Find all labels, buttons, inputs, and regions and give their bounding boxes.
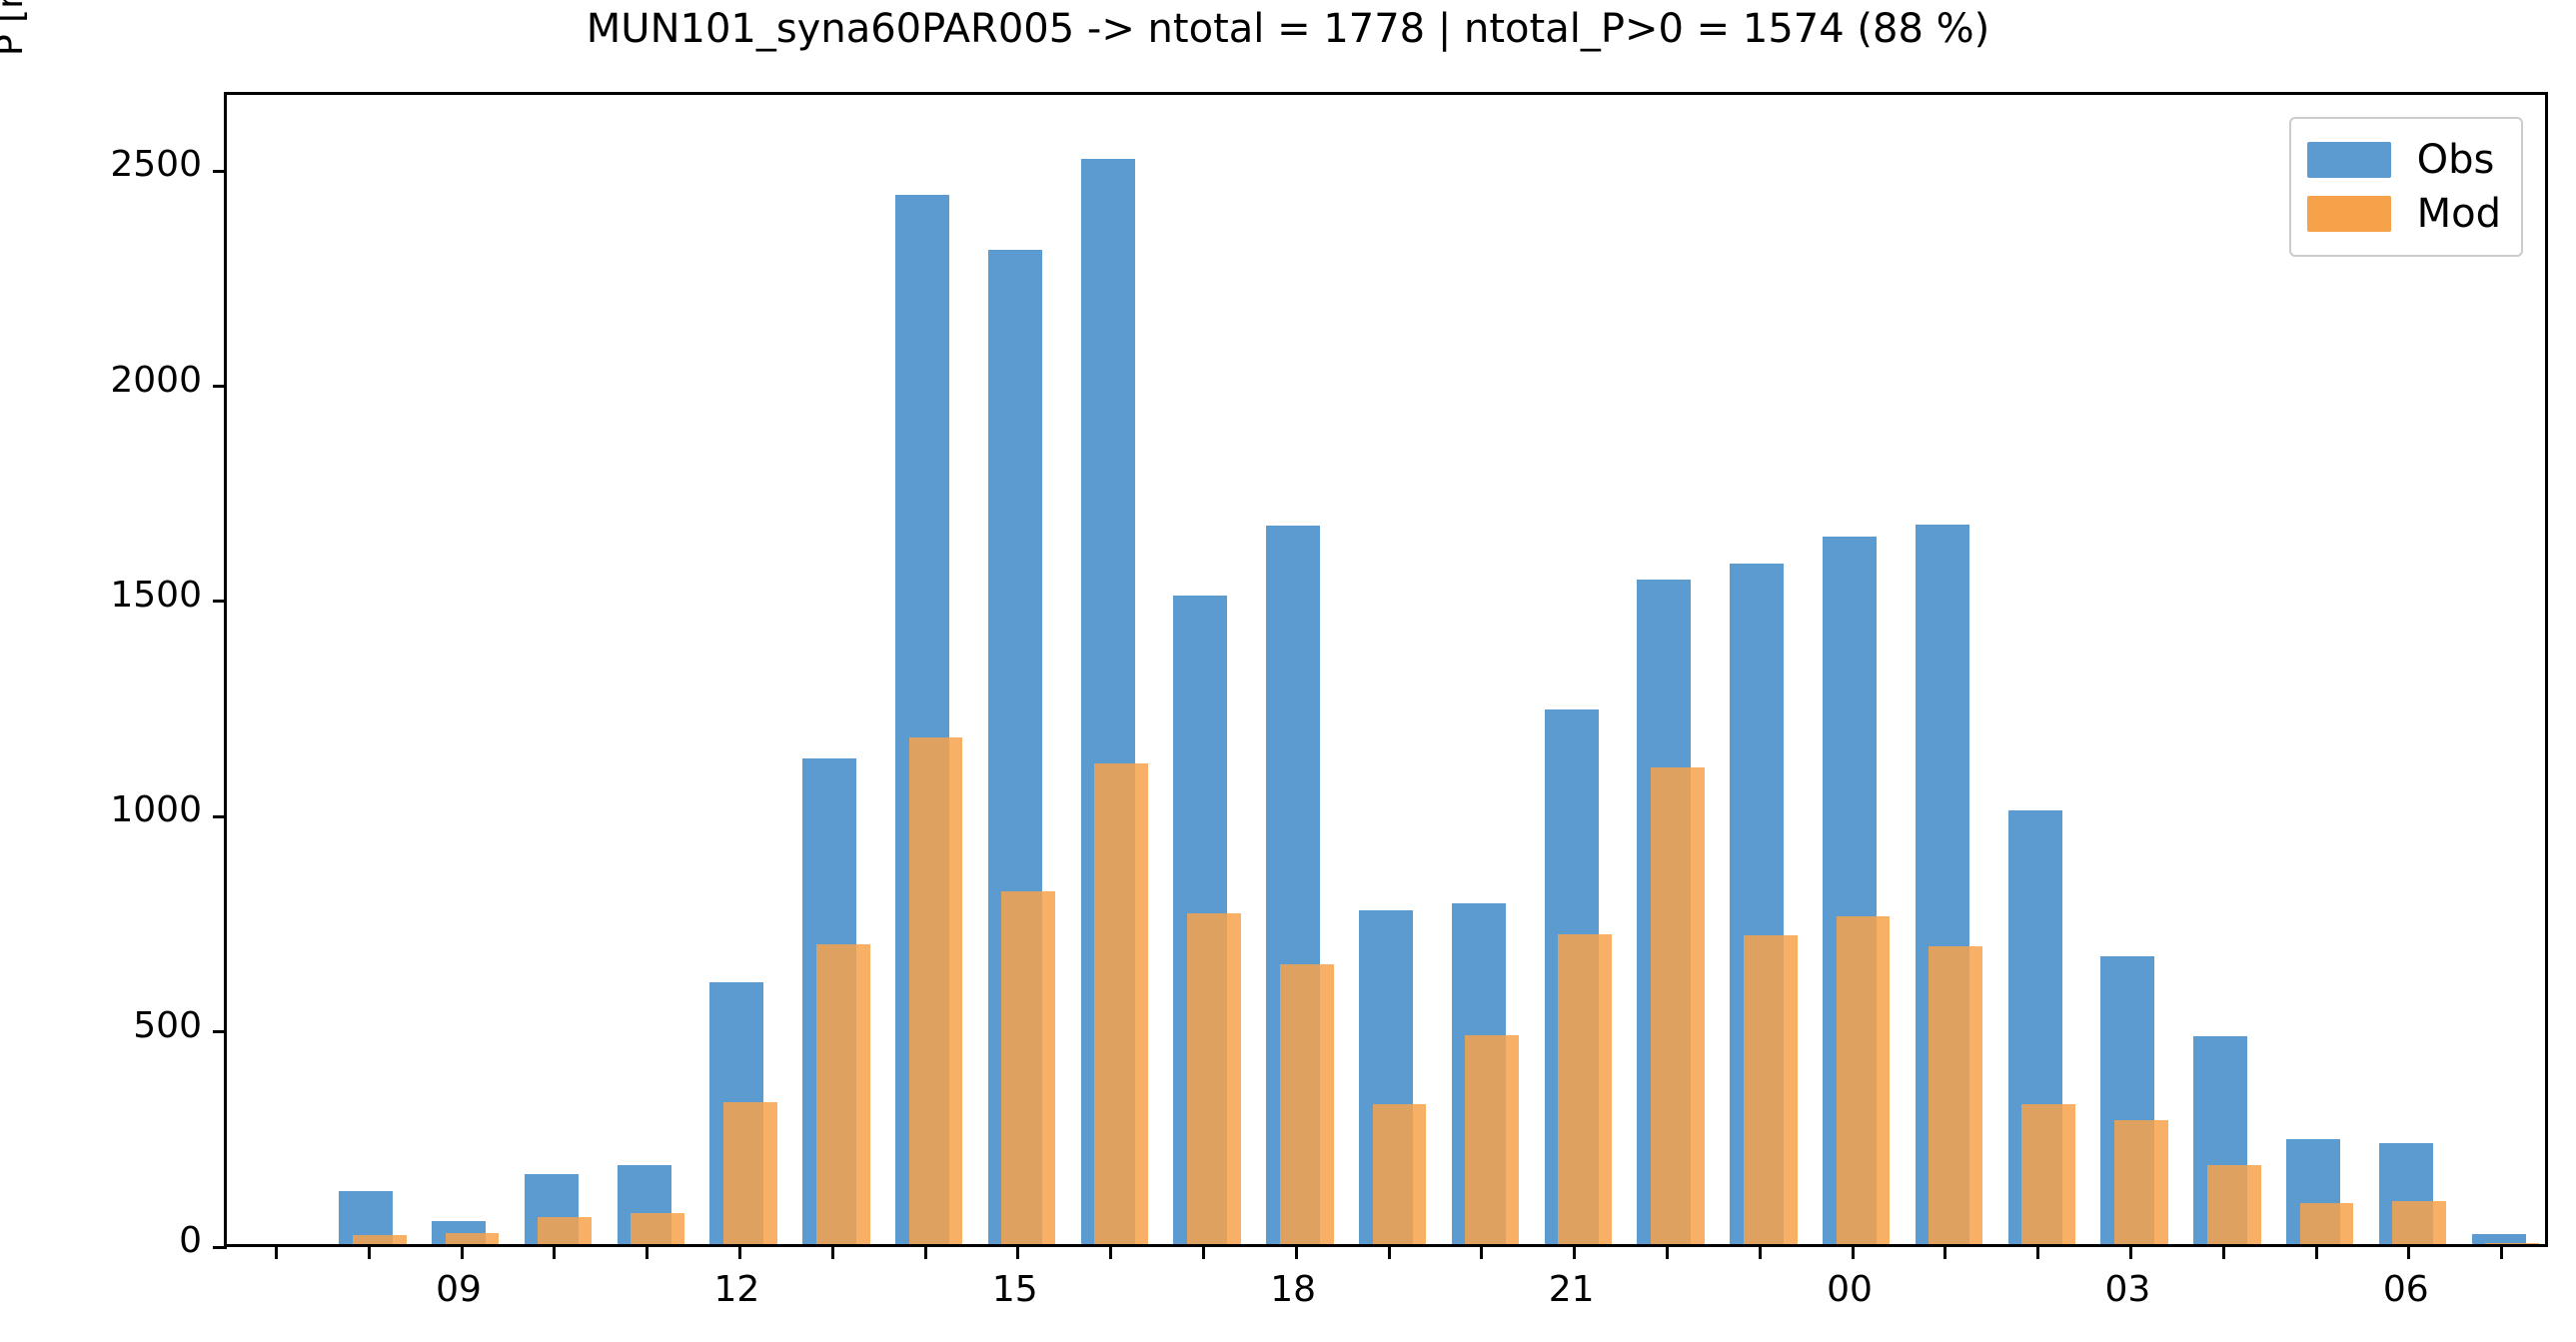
bar-mod <box>1001 891 1055 1244</box>
x-tick-label: 21 <box>1512 1269 1632 1310</box>
x-tick-mark <box>2407 1244 2410 1259</box>
x-tick-mark <box>1666 1244 1669 1259</box>
bar-mod <box>2207 1165 2261 1244</box>
legend-item-obs: Obs <box>2307 133 2501 187</box>
x-tick-mark <box>1388 1244 1391 1259</box>
bar-mod <box>538 1217 592 1244</box>
legend: Obs Mod <box>2289 117 2523 257</box>
x-tick-label: 12 <box>676 1269 796 1310</box>
x-tick-mark <box>461 1244 464 1259</box>
x-tick-mark <box>2036 1244 2039 1259</box>
x-tick-mark <box>1759 1244 1762 1259</box>
bar-mod <box>2021 1104 2075 1244</box>
y-tick-mark <box>213 170 227 173</box>
x-tick-mark <box>2129 1244 2132 1259</box>
y-tick-label: 2000 <box>32 360 202 401</box>
bar-mod <box>2392 1201 2446 1245</box>
x-tick-label: 15 <box>955 1269 1075 1310</box>
x-tick-label: 18 <box>1233 1269 1353 1310</box>
bar-mod <box>1280 964 1334 1244</box>
plot-area: Obs Mod <box>224 92 2548 1247</box>
x-tick-mark <box>1109 1244 1112 1259</box>
x-tick-mark <box>275 1244 278 1259</box>
x-tick-mark <box>1202 1244 1205 1259</box>
x-tick-mark <box>831 1244 834 1259</box>
x-tick-mark <box>1573 1244 1576 1259</box>
bars-container <box>227 95 2545 1244</box>
x-tick-mark <box>645 1244 648 1259</box>
x-tick-mark <box>2315 1244 2318 1259</box>
y-tick-mark <box>213 1246 227 1249</box>
legend-swatch-obs <box>2307 142 2391 178</box>
y-tick-label: 0 <box>32 1220 202 1261</box>
bar-mod <box>1094 763 1148 1244</box>
legend-label-mod: Mod <box>2417 194 2501 234</box>
x-tick-mark <box>2500 1244 2503 1259</box>
y-tick-mark <box>213 815 227 818</box>
bar-mod <box>2300 1203 2354 1244</box>
x-tick-label: 06 <box>2346 1269 2466 1310</box>
x-tick-mark <box>1295 1244 1298 1259</box>
x-tick-label: 09 <box>399 1269 519 1310</box>
bar-mod <box>1837 916 1891 1244</box>
x-tick-mark <box>1852 1244 1855 1259</box>
bar-mod <box>723 1102 777 1244</box>
y-axis-label: P [mm] <box>0 0 31 56</box>
x-tick-mark <box>1943 1244 1946 1259</box>
y-tick-mark <box>213 600 227 603</box>
x-tick-mark <box>553 1244 556 1259</box>
figure: MUN101_syna60PAR005 -> ntotal = 1778 | n… <box>0 0 2576 1342</box>
bar-mod <box>1465 1035 1519 1244</box>
y-tick-label: 2500 <box>32 144 202 185</box>
bar-mod <box>1929 946 1982 1244</box>
bar-mod <box>1373 1104 1427 1244</box>
x-tick-label: 03 <box>2067 1269 2187 1310</box>
bar-mod <box>446 1233 500 1244</box>
bar-mod <box>1651 767 1705 1244</box>
bar-mod <box>631 1213 684 1244</box>
x-tick-mark <box>2222 1244 2225 1259</box>
bar-mod <box>2114 1120 2168 1244</box>
legend-swatch-mod <box>2307 196 2391 232</box>
bar-mod <box>1558 934 1612 1244</box>
y-tick-mark <box>213 1030 227 1033</box>
bar-mod <box>1187 913 1241 1244</box>
x-tick-mark <box>1480 1244 1483 1259</box>
x-tick-label: 00 <box>1790 1269 1910 1310</box>
y-tick-label: 1500 <box>32 575 202 616</box>
x-tick-mark <box>1016 1244 1019 1259</box>
legend-label-obs: Obs <box>2417 140 2495 180</box>
x-tick-mark <box>924 1244 927 1259</box>
bar-mod <box>1744 935 1798 1244</box>
bar-mod <box>353 1235 407 1244</box>
y-tick-label: 1000 <box>32 789 202 830</box>
x-tick-mark <box>738 1244 741 1259</box>
bar-mod <box>2485 1243 2539 1244</box>
x-tick-mark <box>368 1244 371 1259</box>
y-tick-mark <box>213 385 227 388</box>
y-tick-label: 500 <box>32 1005 202 1046</box>
chart-title: MUN101_syna60PAR005 -> ntotal = 1778 | n… <box>0 6 2576 52</box>
bar-mod <box>816 944 870 1244</box>
legend-item-mod: Mod <box>2307 187 2501 241</box>
bar-mod <box>909 737 963 1244</box>
